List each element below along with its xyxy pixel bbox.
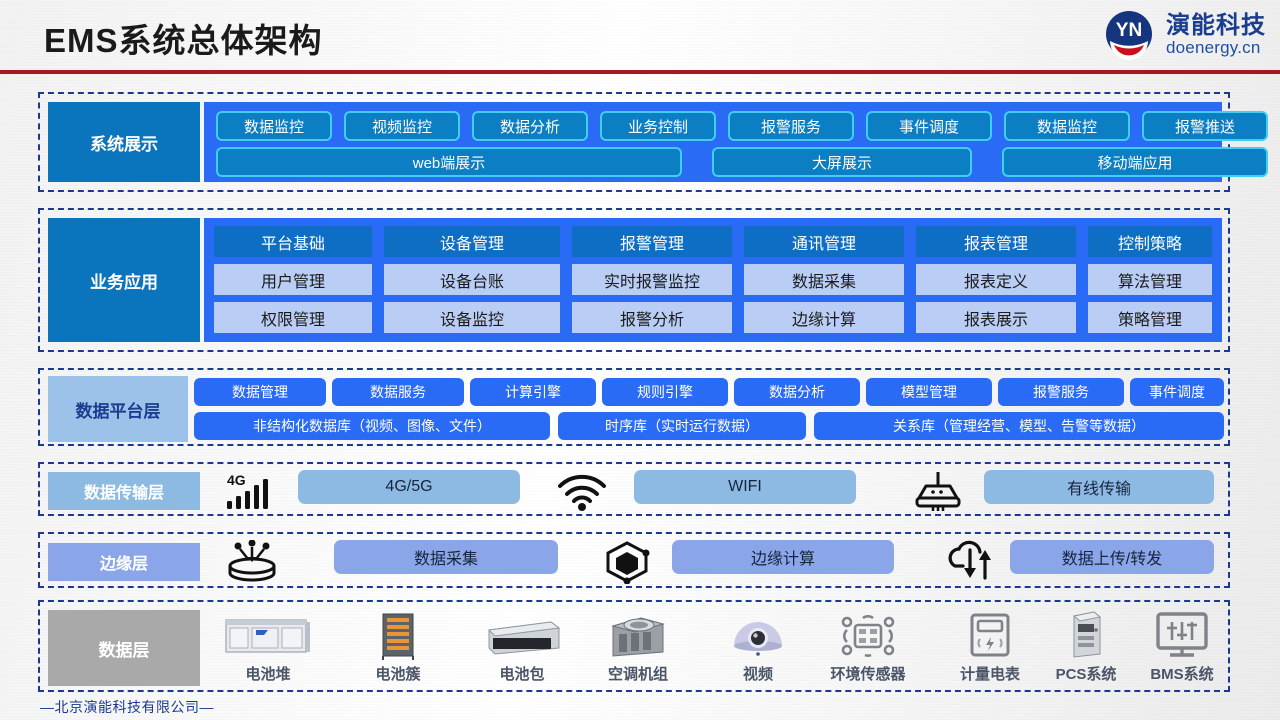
device-energy-meter[interactable]: 计量电表 — [940, 608, 1040, 684]
layer-data-transmission: 数据传输层 4G 4G/5G WIFI — [38, 462, 1230, 516]
display-channel-mobile[interactable]: 移动端应用 — [1002, 147, 1268, 177]
layer-label-data-transmission: 数据传输层 — [48, 472, 200, 510]
device-battery-rack[interactable]: 电池簇 — [348, 608, 448, 684]
platform-db-relational[interactable]: 关系库（管理经营、模型、告警等数据） — [814, 412, 1224, 440]
business-application-panel: 平台基础 用户管理 权限管理 设备管理 设备台账 设备监控 报警管理 实时报警监… — [204, 218, 1222, 342]
biz-col-sub-5-1[interactable]: 策略管理 — [1088, 302, 1212, 333]
device-label: 空调机组 — [608, 663, 668, 684]
platform-db-unstructured[interactable]: 非结构化数据库（视频、图像、文件） — [194, 412, 550, 440]
logo-company-name: 演能科技 — [1166, 13, 1266, 38]
dome-camera-icon — [728, 608, 788, 660]
display-item-7[interactable]: 报警推送 — [1142, 111, 1268, 141]
platform-item-6[interactable]: 报警服务 — [998, 378, 1124, 406]
energy-meter-icon — [963, 608, 1017, 660]
page-title: EMS系统总体架构 — [44, 14, 323, 62]
transmission-item-wifi[interactable]: WIFI — [634, 470, 856, 504]
data-collection-icon — [210, 540, 294, 584]
layer-label-business-application: 业务应用 — [48, 218, 200, 342]
display-item-2[interactable]: 数据分析 — [472, 111, 588, 141]
display-item-6[interactable]: 数据监控 — [1004, 111, 1130, 141]
layer-data-platform: 数据平台层 数据管理 数据服务 计算引擎 规则引擎 数据分析 模型管理 报警服务… — [38, 368, 1230, 446]
display-item-5[interactable]: 事件调度 — [866, 111, 992, 141]
battery-container-icon — [222, 608, 314, 660]
layer-label-edge: 边缘层 — [48, 543, 200, 581]
display-channel-web[interactable]: web端展示 — [216, 147, 682, 177]
transmission-item-4g5g[interactable]: 4G/5G — [298, 470, 520, 504]
platform-item-3[interactable]: 规则引擎 — [602, 378, 728, 406]
layer-system-display: 系统展示 数据监控 视频监控 数据分析 业务控制 报警服务 事件调度 数据监控 … — [38, 92, 1230, 192]
device-hvac-unit[interactable]: 空调机组 — [588, 608, 688, 684]
transmission-item-wired[interactable]: 有线传输 — [984, 470, 1214, 504]
footer-company: —北京演能科技有限公司— — [40, 697, 214, 717]
device-label: 电池包 — [499, 663, 544, 684]
svg-text:YN: YN — [1116, 20, 1142, 41]
device-bms-monitor[interactable]: BMS系统 — [1132, 608, 1232, 684]
display-item-1[interactable]: 视频监控 — [344, 111, 460, 141]
platform-item-1[interactable]: 数据服务 — [332, 378, 464, 406]
display-item-3[interactable]: 业务控制 — [600, 111, 716, 141]
biz-col-head-1[interactable]: 设备管理 — [384, 226, 560, 257]
battery-rack-icon — [371, 608, 425, 660]
device-label: 电池簇 — [375, 663, 420, 684]
platform-item-2[interactable]: 计算引擎 — [470, 378, 596, 406]
router-icon — [896, 470, 980, 512]
header-divider — [0, 70, 1280, 74]
layer-business-application: 业务应用 平台基础 用户管理 权限管理 设备管理 设备台账 设备监控 报警管理 … — [38, 208, 1230, 352]
biz-col-sub-0-1[interactable]: 权限管理 — [214, 302, 372, 333]
platform-item-4[interactable]: 数据分析 — [734, 378, 860, 406]
biz-col-sub-0-0[interactable]: 用户管理 — [214, 264, 372, 295]
layer-label-data-platform: 数据平台层 — [48, 376, 188, 442]
device-environment-sensor[interactable]: 环境传感器 — [818, 608, 918, 684]
yn-logo-icon: YN — [1102, 8, 1156, 62]
cloud-upload-download-icon — [930, 540, 1014, 584]
environment-sensor-icon — [837, 608, 899, 660]
biz-col-head-5[interactable]: 控制策略 — [1088, 226, 1212, 257]
platform-item-5[interactable]: 模型管理 — [866, 378, 992, 406]
display-item-4[interactable]: 报警服务 — [728, 111, 854, 141]
platform-item-7[interactable]: 事件调度 — [1130, 378, 1224, 406]
signal-4g-icon: 4G — [210, 470, 294, 512]
wifi-icon — [540, 470, 624, 512]
layer-label-system-display: 系统展示 — [48, 102, 200, 182]
device-label: 视频 — [743, 663, 773, 684]
biz-col-head-2[interactable]: 报警管理 — [572, 226, 732, 257]
system-display-panel: 数据监控 视频监控 数据分析 业务控制 报警服务 事件调度 数据监控 报警推送 … — [204, 102, 1222, 182]
pcs-cabinet-icon — [1062, 608, 1110, 660]
biz-col-sub-1-0[interactable]: 设备台账 — [384, 264, 560, 295]
edge-item-upload[interactable]: 数据上传/转发 — [1010, 540, 1214, 574]
layer-data: 数据层 电池堆 — [38, 600, 1230, 692]
biz-col-sub-2-0[interactable]: 实时报警监控 — [572, 264, 732, 295]
biz-col-sub-1-1[interactable]: 设备监控 — [384, 302, 560, 333]
device-battery-pack[interactable]: 电池包 — [472, 608, 572, 684]
edge-item-computing[interactable]: 边缘计算 — [672, 540, 894, 574]
edge-item-collection[interactable]: 数据采集 — [334, 540, 558, 574]
device-label: 电池堆 — [245, 663, 290, 684]
device-dome-camera[interactable]: 视频 — [708, 608, 808, 684]
platform-item-0[interactable]: 数据管理 — [194, 378, 326, 406]
display-item-0[interactable]: 数据监控 — [216, 111, 332, 141]
device-pcs-cabinet[interactable]: PCS系统 — [1036, 608, 1136, 684]
biz-col-sub-3-1[interactable]: 边缘计算 — [744, 302, 904, 333]
biz-col-head-4[interactable]: 报表管理 — [916, 226, 1076, 257]
layer-edge: 边缘层 数据采集 边缘计算 数据上 — [38, 532, 1230, 588]
svg-text:4G: 4G — [227, 472, 246, 488]
device-battery-container[interactable]: 电池堆 — [218, 608, 318, 684]
battery-pack-icon — [481, 608, 563, 660]
biz-col-sub-4-1[interactable]: 报表展示 — [916, 302, 1076, 333]
biz-col-head-0[interactable]: 平台基础 — [214, 226, 372, 257]
layer-label-data: 数据层 — [48, 610, 200, 686]
biz-col-sub-3-0[interactable]: 数据采集 — [744, 264, 904, 295]
device-label: 计量电表 — [960, 663, 1020, 684]
cube-edge-icon — [588, 540, 666, 584]
bms-monitor-icon — [1152, 608, 1212, 660]
brand-logo: YN 演能科技 doenergy.cn — [1102, 8, 1266, 62]
biz-col-head-3[interactable]: 通讯管理 — [744, 226, 904, 257]
biz-col-sub-4-0[interactable]: 报表定义 — [916, 264, 1076, 295]
device-label: 环境传感器 — [830, 663, 905, 684]
platform-db-timeseries[interactable]: 时序库（实时运行数据） — [558, 412, 806, 440]
biz-col-sub-5-0[interactable]: 算法管理 — [1088, 264, 1212, 295]
logo-domain: doenergy.cn — [1166, 39, 1266, 57]
hvac-unit-icon — [603, 608, 673, 660]
device-label: PCS系统 — [1056, 663, 1117, 684]
page-header: EMS系统总体架构 YN 演能科技 doenergy.cn — [0, 0, 1280, 72]
biz-col-sub-2-1[interactable]: 报警分析 — [572, 302, 732, 333]
display-channel-bigscreen[interactable]: 大屏展示 — [712, 147, 972, 177]
device-label: BMS系统 — [1150, 663, 1213, 684]
